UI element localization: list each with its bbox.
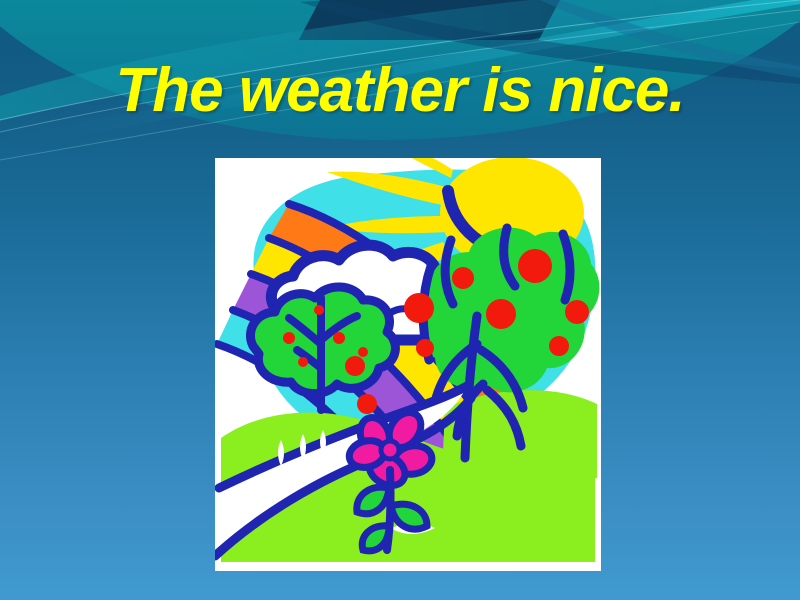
weather-illustration bbox=[215, 158, 601, 571]
background-dark-wedge bbox=[299, 0, 582, 40]
presentation-slide: The weather is nice. bbox=[0, 0, 800, 600]
slide-title: The weather is nice. bbox=[0, 58, 800, 123]
illustration-canvas bbox=[215, 158, 601, 571]
